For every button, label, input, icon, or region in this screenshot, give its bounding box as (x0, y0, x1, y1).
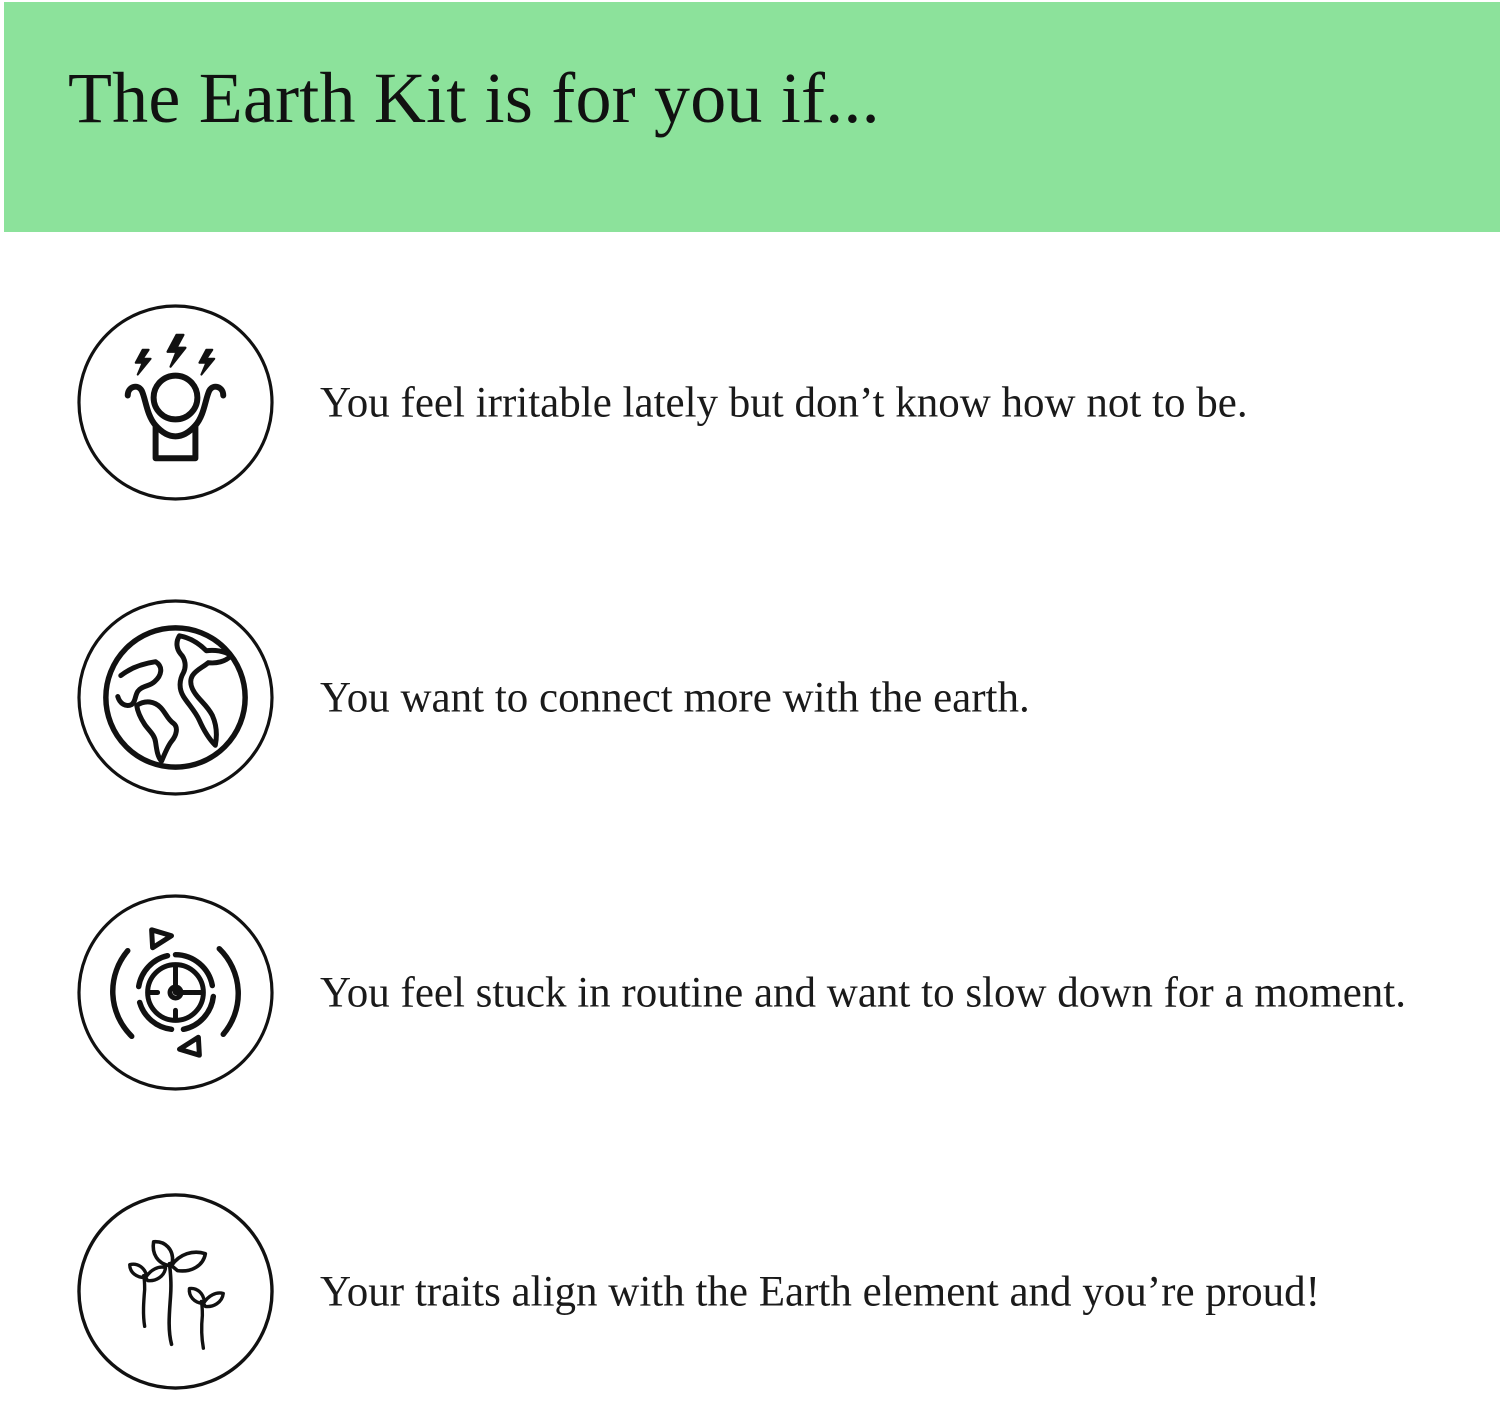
list-item-label: You want to connect more with the earth. (320, 673, 1030, 722)
earth-globe-icon (76, 598, 275, 797)
stressed-person-icon (76, 303, 275, 502)
benefit-list: You feel irritable lately but don’t know… (0, 232, 1500, 1401)
sprouts-icon (76, 1192, 275, 1391)
list-item: You feel stuck in routine and want to sl… (0, 893, 1500, 1093)
list-item: You feel irritable lately but don’t know… (0, 303, 1500, 503)
list-item-label: Your traits align with the Earth element… (320, 1267, 1320, 1316)
list-item-label: You feel stuck in routine and want to sl… (320, 968, 1406, 1017)
list-item: Your traits align with the Earth element… (0, 1192, 1500, 1392)
list-item-label: You feel irritable lately but don’t know… (320, 378, 1248, 427)
page-title: The Earth Kit is for you if... (68, 62, 880, 134)
header-band: The Earth Kit is for you if... (4, 2, 1500, 232)
clock-cycle-icon (76, 893, 275, 1092)
list-item: You want to connect more with the earth. (0, 598, 1500, 798)
